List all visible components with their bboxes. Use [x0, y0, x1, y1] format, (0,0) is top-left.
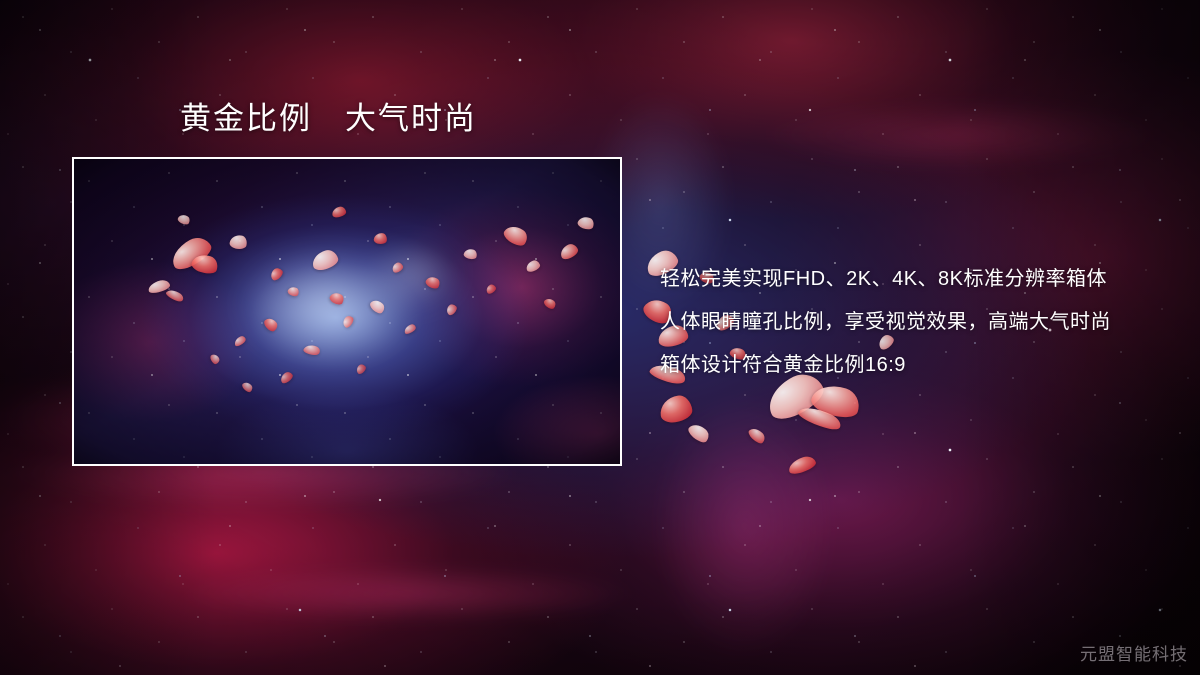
slide-canvas: 黄金比例 大气时尚 轻松完美实现FHD、2K、4K、8K标准分辨率箱体 人体眼睛… — [0, 0, 1200, 675]
body-line-2: 人体眼睛瞳孔比例，享受视觉效果，高端大气时尚 — [660, 301, 1180, 344]
flower-petal — [658, 394, 693, 424]
slide-title: 黄金比例 大气时尚 — [180, 100, 477, 138]
body-line-3: 箱体设计符合黄金比例16:9 — [660, 344, 1180, 387]
photo-vignette — [74, 159, 620, 464]
photo-image — [74, 159, 620, 464]
watermark: 元盟智能科技 — [1080, 640, 1188, 665]
flower-petal — [747, 425, 768, 445]
photo-frame — [72, 157, 622, 466]
body-line-1: 轻松完美实现FHD、2K、4K、8K标准分辨率箱体 — [660, 258, 1180, 301]
flower-petal — [787, 454, 818, 476]
flower-petal — [686, 421, 712, 446]
flower-petal — [797, 401, 844, 435]
body-copy: 轻松完美实现FHD、2K、4K、8K标准分辨率箱体 人体眼睛瞳孔比例，享受视觉效… — [660, 258, 1180, 387]
